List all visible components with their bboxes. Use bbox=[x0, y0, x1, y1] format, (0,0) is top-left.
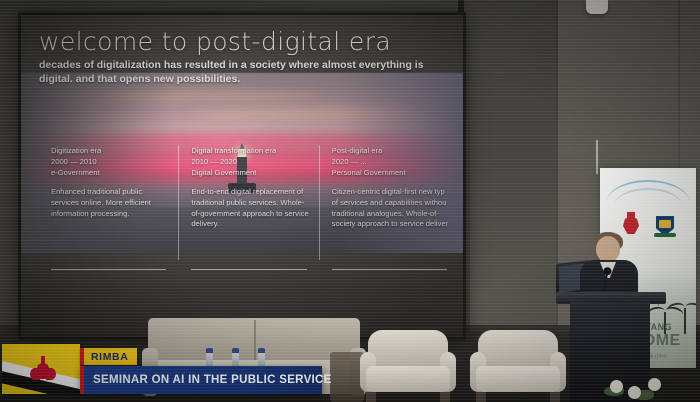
column-body: Citizen-centric digital-first new typ of… bbox=[332, 187, 449, 230]
lower-third-headline: SEMINAR ON AI IN THE PUBLIC SERVICE bbox=[84, 374, 332, 386]
brunei-crest-icon bbox=[620, 212, 642, 238]
foreground-flowers bbox=[604, 374, 694, 402]
column-rule bbox=[332, 269, 447, 271]
palm-tree-icon bbox=[684, 308, 686, 334]
lower-third-banner: SEMINAR ON AI IN THE PUBLIC SERVICE bbox=[80, 366, 322, 394]
column-rule bbox=[191, 269, 306, 271]
ceiling-fixture bbox=[586, 0, 608, 14]
brunei-crest-icon bbox=[32, 356, 54, 384]
slide-subtitle: decades of digitalization has resulted i… bbox=[39, 59, 439, 87]
channel-badge-label: RIMBA bbox=[91, 351, 128, 363]
slide-title: welcome to post-digital era bbox=[39, 27, 391, 56]
armchair bbox=[360, 330, 456, 402]
column-body: Enhanced traditional public services onl… bbox=[51, 187, 168, 219]
armchair bbox=[470, 330, 566, 402]
video-frame: welcome to post-digital era decades of d… bbox=[0, 0, 700, 402]
slide-columns: Digitization era 2000 — 2010 e-Governmen… bbox=[39, 145, 459, 260]
side-table bbox=[330, 352, 364, 402]
column-heading: Digitization era 2000 — 2010 e-Governmen… bbox=[51, 145, 168, 178]
channel-badge: RIMBA bbox=[80, 348, 137, 365]
slide-column: Digital transformation era 2010 — 2020 D… bbox=[178, 145, 318, 260]
column-heading: Post-digital era 2020 — ... Personal Gov… bbox=[332, 145, 449, 178]
column-rule bbox=[51, 269, 166, 271]
banner-pole bbox=[596, 140, 598, 174]
column-heading: Digital transformation era 2010 — 2020 D… bbox=[191, 145, 308, 178]
column-body: End-to-end digital replacement of tradit… bbox=[191, 187, 308, 230]
brunei-flag bbox=[2, 344, 80, 394]
slide-column: Post-digital era 2020 — ... Personal Gov… bbox=[319, 145, 459, 260]
institution-crest-icon bbox=[654, 212, 676, 238]
slide-column: Digitization era 2000 — 2010 e-Governmen… bbox=[39, 145, 178, 260]
projection-screen: welcome to post-digital era decades of d… bbox=[18, 12, 466, 340]
presentation-slide: welcome to post-digital era decades of d… bbox=[21, 15, 463, 337]
